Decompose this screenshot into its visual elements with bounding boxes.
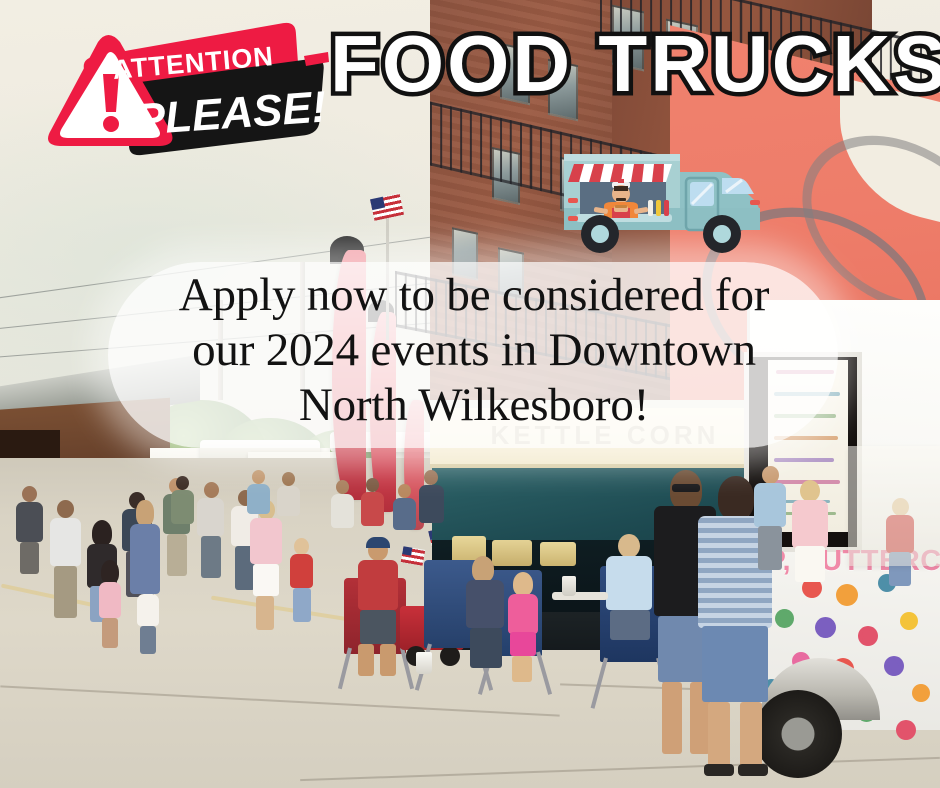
- person-head: [22, 486, 37, 502]
- person-legs: [708, 702, 730, 768]
- truck-roof-trim: [564, 154, 680, 161]
- flower-center: [906, 618, 912, 624]
- person-legs: [610, 610, 650, 640]
- popcorn-bag: [540, 542, 576, 566]
- person-head: [800, 480, 820, 502]
- crowd-person: [128, 500, 162, 626]
- food-truck-promo-poster: KETTLE CORN UP, BUTTERCUP: [0, 0, 940, 788]
- page-title: FOOD TRUCKS: [330, 24, 940, 104]
- menu-line: [774, 458, 834, 462]
- person-head: [718, 476, 754, 520]
- person-body: [16, 502, 43, 542]
- person-head: [101, 560, 119, 584]
- flower-center: [822, 624, 829, 631]
- vendor-burger: [615, 205, 627, 208]
- person-head: [424, 470, 438, 485]
- person-head: [282, 472, 295, 486]
- person-body: [358, 560, 398, 610]
- person-body: [508, 594, 538, 634]
- person-legs: [512, 656, 532, 682]
- person-legs: [662, 682, 682, 754]
- crowd-person: [14, 486, 44, 574]
- flower-decal: [815, 617, 836, 638]
- mustard-bottle: [656, 200, 661, 216]
- flower-center: [865, 633, 871, 639]
- message-line-1: Apply now to be considered for: [118, 268, 830, 323]
- truck-front-light: [750, 200, 760, 205]
- person-legs: [360, 610, 396, 644]
- person-head: [136, 500, 154, 526]
- vendor-tent: [848, 446, 940, 566]
- person-legs: [293, 588, 311, 622]
- crowd-person: [170, 476, 196, 554]
- person-head: [762, 466, 779, 484]
- flower-center: [843, 591, 850, 598]
- person-legs: [253, 564, 279, 596]
- message-text: Apply now to be considered for our 2024 …: [118, 268, 830, 433]
- flower-center: [903, 727, 909, 733]
- sandal: [738, 764, 768, 776]
- flag-canton: [370, 197, 385, 210]
- vendor-cap-top: [618, 179, 624, 183]
- child-standing: [504, 572, 544, 684]
- person-body: [606, 556, 652, 610]
- person-body: [50, 518, 81, 566]
- person-legs: [702, 626, 768, 702]
- crowd-child: [96, 560, 124, 652]
- crowd-person: [418, 470, 446, 562]
- side-table: [552, 592, 608, 600]
- person-body: [197, 498, 224, 536]
- flower-decal: [896, 720, 916, 740]
- person-legs: [758, 526, 782, 570]
- truck-front-hub: [713, 225, 731, 243]
- person-head: [57, 500, 74, 518]
- mayo-bottle: [648, 200, 653, 216]
- person-legs: [380, 644, 396, 676]
- person-body: [290, 554, 313, 588]
- message-line-3: North Wilkesboro!: [118, 378, 830, 433]
- person-head: [472, 556, 494, 582]
- wagon-wheel: [440, 646, 460, 666]
- crowd-person: [752, 466, 788, 586]
- person-head: [336, 480, 349, 494]
- person-body: [419, 485, 444, 523]
- person-body: [171, 490, 194, 524]
- food-truck-illustration: [556, 138, 768, 273]
- person-legs: [102, 618, 118, 648]
- person-head: [618, 534, 640, 558]
- person-body: [247, 484, 270, 514]
- crowd-person: [48, 500, 82, 628]
- vendor-hair: [614, 186, 628, 191]
- person-body: [792, 500, 828, 548]
- person-legs: [140, 626, 156, 654]
- person-body: [466, 580, 504, 628]
- flower-decal: [836, 584, 858, 606]
- vendor-mustache: [616, 198, 626, 201]
- person-legs: [470, 628, 502, 668]
- person-head: [252, 470, 265, 484]
- crowd-person: [246, 470, 272, 542]
- person-head: [176, 476, 189, 490]
- person-head: [513, 572, 533, 596]
- attention-please-badge: ATTENTION PLEASE!: [36, 12, 336, 162]
- crowd-person: [196, 482, 226, 590]
- flower-decal: [884, 656, 904, 676]
- crowd-child: [288, 538, 316, 634]
- crowd-person: [790, 480, 830, 608]
- flower-decal: [858, 626, 878, 646]
- flower-center: [781, 615, 787, 621]
- drink-cup: [416, 652, 432, 674]
- person-head: [398, 484, 411, 498]
- person-legs: [795, 546, 825, 582]
- badge-exclamation-dot: [103, 116, 119, 132]
- person-body: [277, 486, 300, 516]
- person-legs: [256, 596, 274, 630]
- person-head: [204, 482, 219, 498]
- flower-center: [891, 663, 897, 669]
- crowd-person: [276, 472, 302, 546]
- person-body: [99, 582, 121, 618]
- flower-decal: [900, 612, 918, 630]
- person-legs: [20, 542, 39, 574]
- truck-tail-light: [568, 198, 578, 203]
- message-line-2: our 2024 events in Downtown: [118, 323, 830, 378]
- truck-marker-light: [568, 216, 578, 221]
- person-legs: [54, 566, 77, 618]
- person-body: [130, 524, 160, 594]
- person-head: [366, 478, 379, 492]
- person-legs: [740, 702, 762, 768]
- badge-red-accent: [304, 52, 329, 66]
- truck-rear-hub: [591, 225, 609, 243]
- person-body: [361, 492, 384, 526]
- flower-center: [918, 690, 924, 696]
- person-cap: [366, 537, 390, 548]
- person-body: [754, 483, 786, 527]
- person-body: [393, 498, 416, 530]
- person-legs: [358, 644, 374, 676]
- person-body: [331, 494, 354, 528]
- ketchup-bottle: [664, 200, 669, 216]
- person-head: [92, 520, 112, 546]
- person-legs: [201, 536, 221, 578]
- person-legs: [510, 632, 536, 656]
- drink-cup: [562, 576, 576, 596]
- flower-decal: [912, 684, 930, 702]
- sandal: [704, 764, 734, 776]
- seated-person: [350, 540, 406, 680]
